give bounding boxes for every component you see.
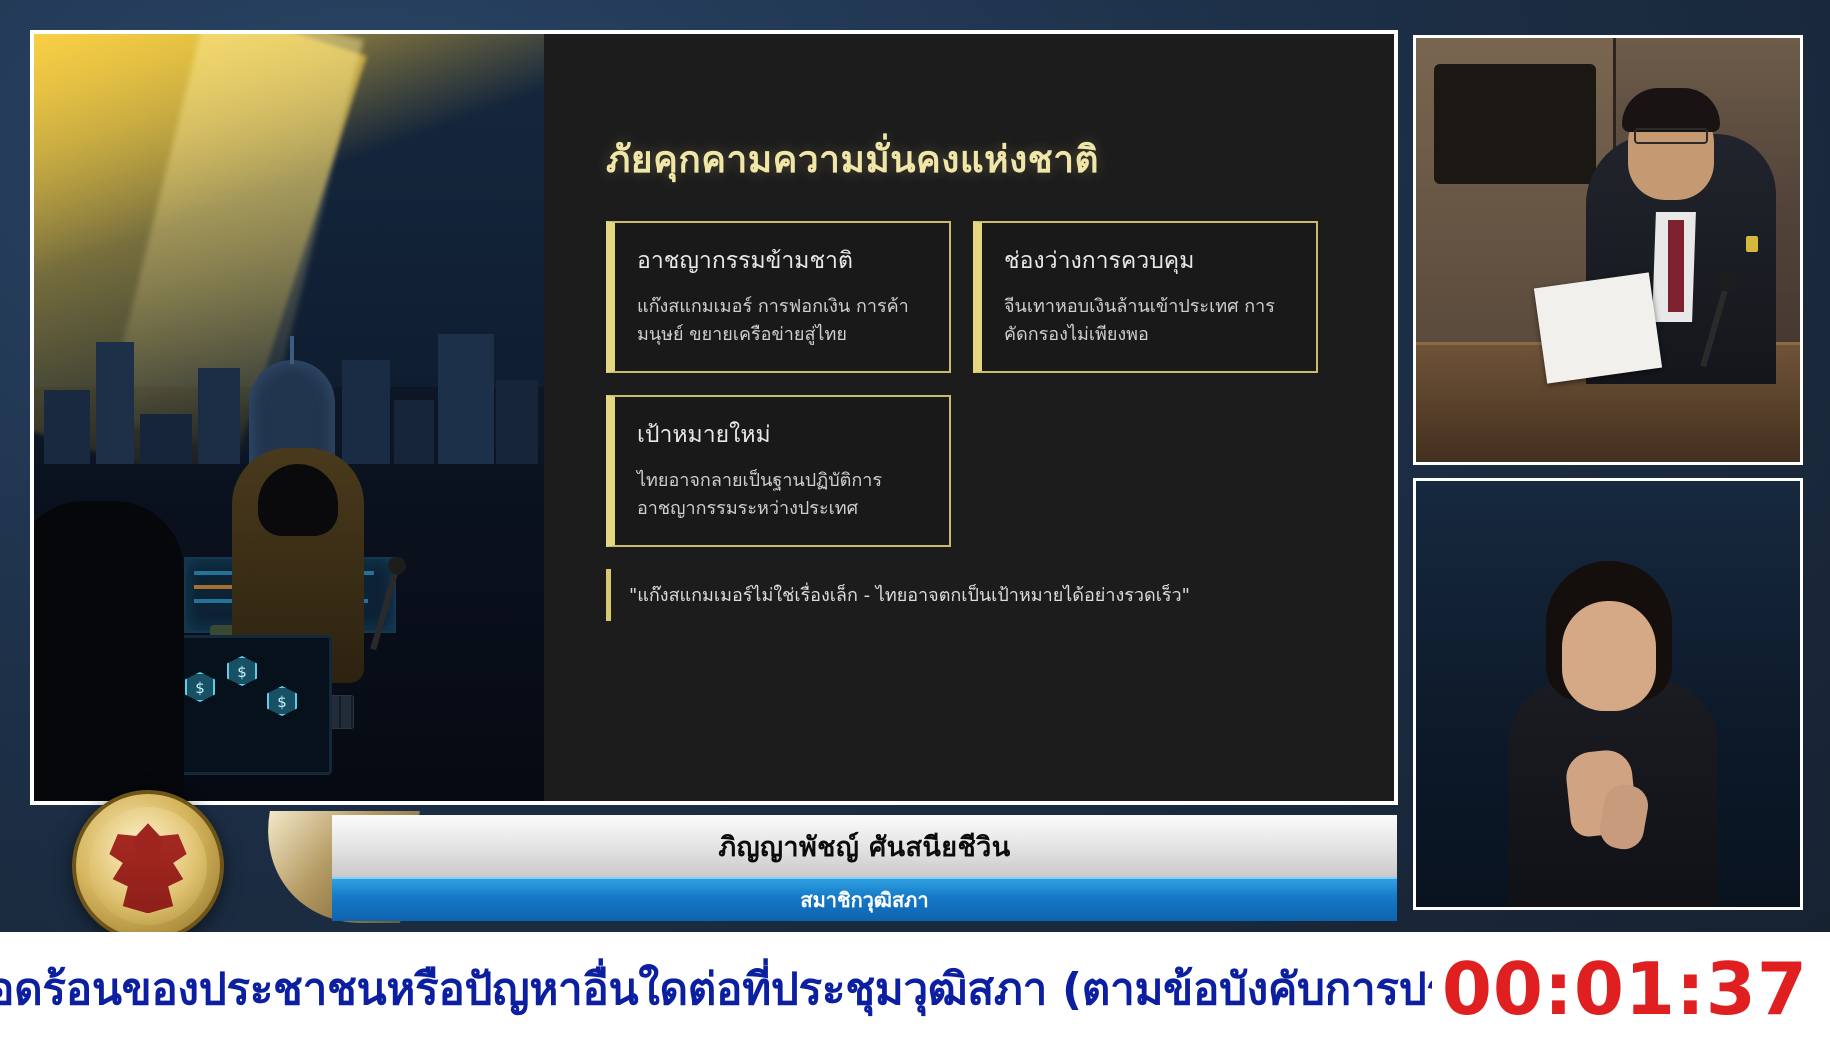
chamber-dark-recess <box>1434 64 1596 184</box>
speaker-camera-feed[interactable] <box>1413 35 1803 465</box>
card-row-top: อาชญากรรมข้ามชาติ แก๊งสแกมเมอร์ การฟอกเง… <box>606 221 1332 373</box>
sign-language-camera-feed[interactable] <box>1413 478 1803 910</box>
speaker-name-bar: ภิญญาพัชญ์ ศันสนียชีวิน <box>332 815 1397 877</box>
slide-title: ภัยคุกคามความมั่นคงแห่งชาติ <box>606 130 1332 189</box>
slide-artwork: $ $ $ <box>34 34 544 801</box>
garuda-icon <box>106 823 190 913</box>
signer-face <box>1562 601 1656 711</box>
news-ticker-bar: อดร้อนของประชาชนหรือปัญหาอื่นใดต่อที่ประ… <box>0 932 1830 1045</box>
slide-video-panel[interactable]: $ $ $ ภัยคุกคามความมั่นคงแห่งชาติ อาชญาก… <box>30 30 1398 805</box>
threat-card-2-title: ช่องว่างการควบคุม <box>1004 243 1294 279</box>
slide-content: ภัยคุกคามความมั่นคงแห่งชาติ อาชญากรรมข้า… <box>544 34 1394 801</box>
threat-card-1-body: แก๊งสแกมเมอร์ การฟอกเงิน การค้ามนุษย์ ขย… <box>637 293 927 349</box>
threat-card-1: อาชญากรรมข้ามชาติ แก๊งสแกมเมอร์ การฟอกเง… <box>606 221 951 373</box>
quote-text: "แก๊งสแกมเมอร์ไม่ใช่เรื่องเล็ก - ไทยอาจต… <box>629 580 1190 609</box>
hex-icon: $ <box>227 656 257 686</box>
speaker-role-bar: สมาชิกวุฒิสภา <box>332 877 1397 921</box>
threat-card-2-body: จีนเทาหอบเงินล้านเข้าประเทศ การคัดกรองไม… <box>1004 293 1294 349</box>
lapel-badge <box>1746 236 1758 252</box>
threat-card-3: เป้าหมายใหม่ ไทยอาจกลายเป็นฐานปฏิบัติการ… <box>606 395 951 547</box>
slide-quote: "แก๊งสแกมเมอร์ไม่ใช่เรื่องเล็ก - ไทยอาจต… <box>606 569 1332 621</box>
threat-card-1-title: อาชญากรรมข้ามชาติ <box>637 243 927 279</box>
hex-icon: $ <box>267 686 297 716</box>
eyeglasses-icon <box>1634 128 1708 144</box>
threat-card-2: ช่องว่างการควบคุม จีนเทาหอบเงินล้านเข้าป… <box>973 221 1318 373</box>
artwork-desk-scene: $ $ $ <box>34 464 544 801</box>
parliament-emblem-icon <box>72 790 224 942</box>
foreground-person <box>30 501 184 801</box>
card-row-bottom: เป้าหมายใหม่ ไทยอาจกลายเป็นฐานปฏิบัติการ… <box>606 395 1332 547</box>
countdown-timer: 00:01:37 <box>1432 953 1830 1025</box>
quote-accent-bar <box>606 569 611 621</box>
broadcast-screen: $ $ $ ภัยคุกคามความมั่นคงแห่งชาติ อาชญาก… <box>0 0 1830 1045</box>
hex-icon: $ <box>185 672 215 702</box>
speaker-document <box>1534 272 1662 383</box>
speaker-name: ภิญญาพัชญ์ ศันสนียชีวิน <box>718 825 1010 868</box>
threat-card-3-body: ไทยอาจกลายเป็นฐานปฏิบัติการอาชญากรรมระหว… <box>637 467 927 523</box>
ticker-text: อดร้อนของประชาชนหรือปัญหาอื่นใดต่อที่ประ… <box>0 954 1432 1024</box>
speaker-role: สมาชิกวุฒิสภา <box>800 884 928 916</box>
threat-card-3-title: เป้าหมายใหม่ <box>637 417 927 453</box>
lower-third-banner: ภิญญาพัชญ์ ศันสนียชีวิน สมาชิกวุฒิสภา <box>332 815 1397 927</box>
speaker-hair <box>1622 88 1720 132</box>
emblem-inner <box>89 807 207 925</box>
speaker-tie <box>1668 220 1684 312</box>
